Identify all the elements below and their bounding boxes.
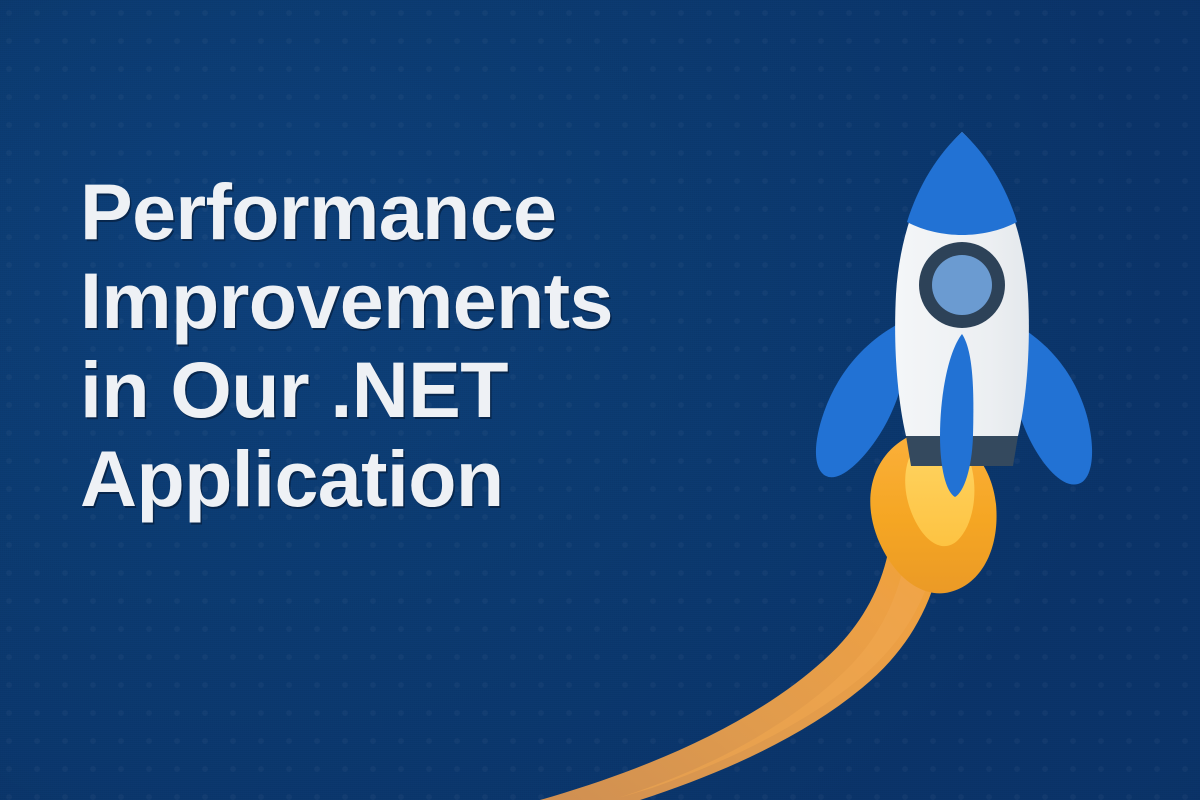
- nose-cone: [907, 132, 1017, 235]
- page-title: Performance Improvements in Our .NET App…: [80, 168, 760, 524]
- headline-line-4: Application: [80, 435, 760, 524]
- headline-line-2: Improvements: [80, 257, 760, 346]
- headline-line-3: in Our .NET: [80, 346, 760, 435]
- hero-banner: Performance Improvements in Our .NET App…: [0, 0, 1200, 800]
- porthole-glass: [932, 255, 992, 315]
- headline-line-1: Performance: [80, 168, 760, 257]
